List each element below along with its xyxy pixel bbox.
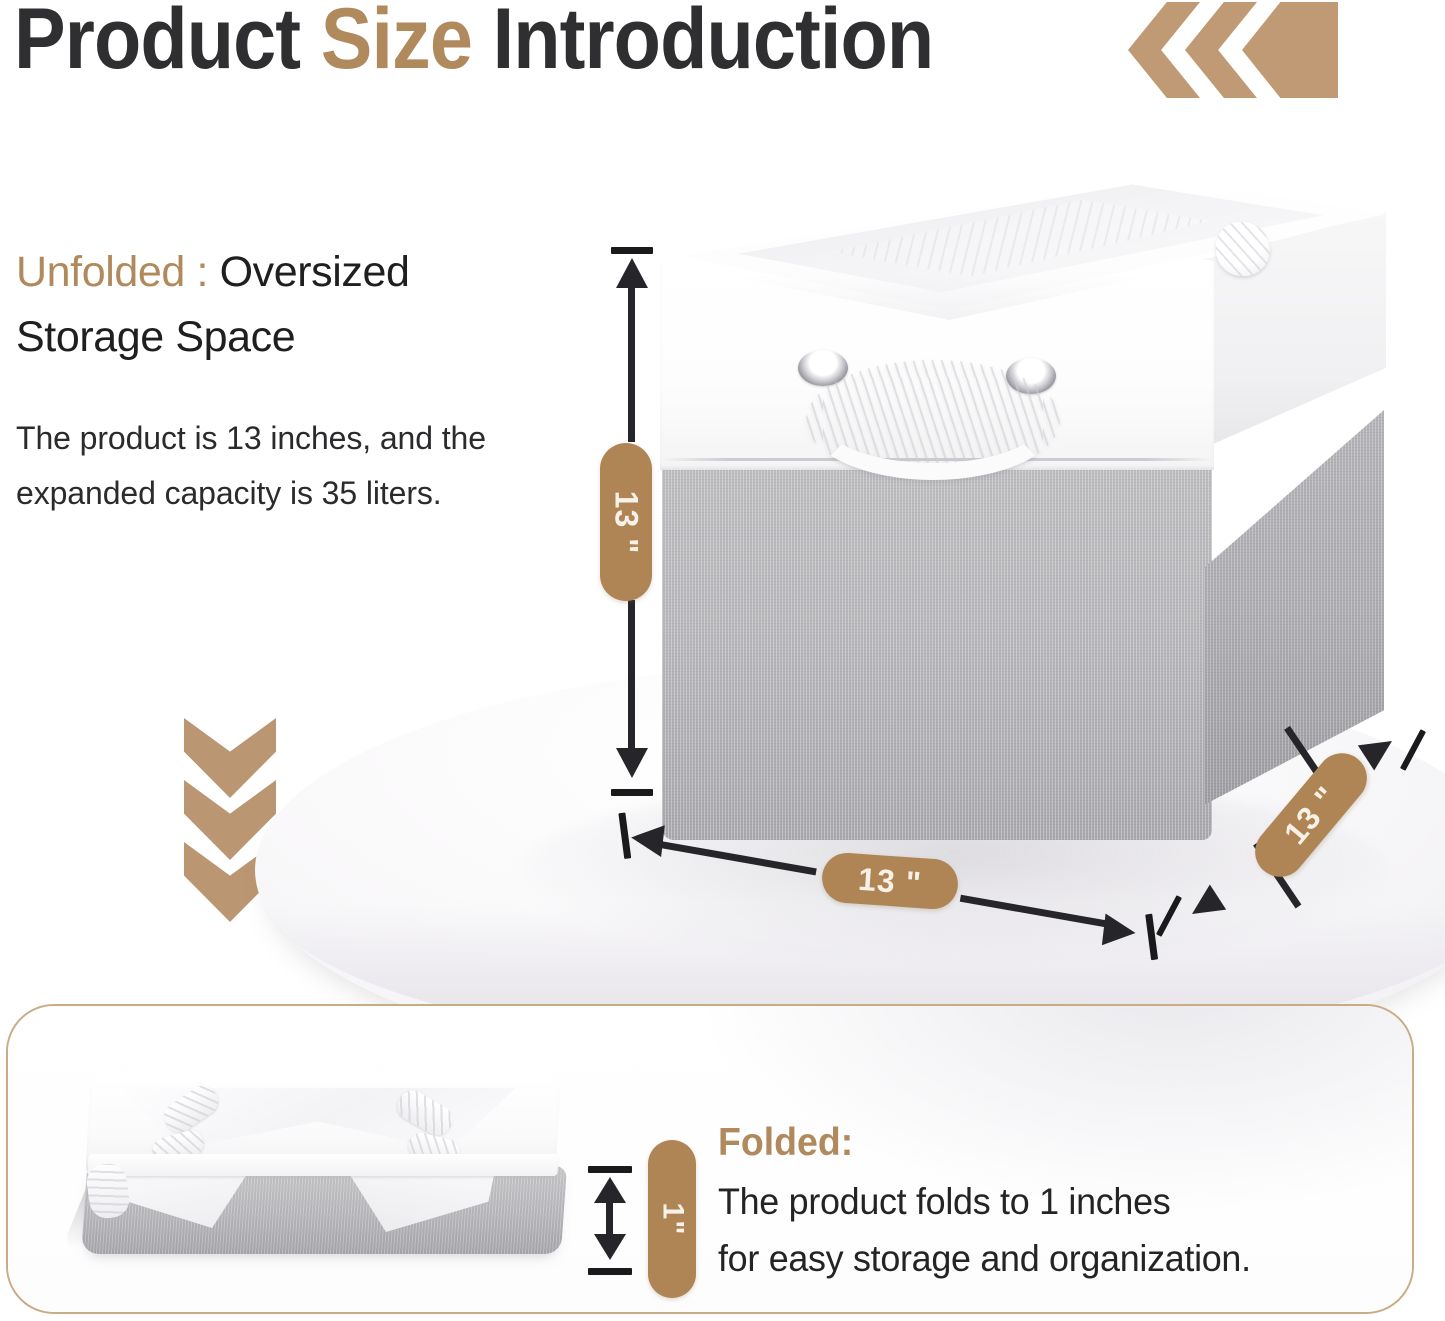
- basket-front-gray-panel: [662, 450, 1212, 840]
- width-line-right: [960, 895, 1114, 929]
- title-highlight: Size: [321, 0, 472, 87]
- height-arrow-down-icon: [616, 748, 648, 778]
- storage-basket-folded: [66, 1068, 586, 1273]
- title-part-2: Introduction: [472, 0, 933, 87]
- width-dimension-badge: 13 ": [820, 851, 959, 910]
- height-dimension-badge: 13 ": [600, 443, 652, 601]
- folded-height-tick-top: [588, 1166, 632, 1173]
- header: Product Size Introduction: [0, 0, 1445, 110]
- product-size-infographic: Product Size Introduction Unfolded : Ove…: [0, 0, 1445, 1321]
- folded-body: The product folds to 1 inches for easy s…: [718, 1173, 1358, 1288]
- rope-knot: [1216, 222, 1270, 276]
- depth-arrow-far-icon: [1358, 728, 1400, 770]
- folded-height-arrow-down-icon: [594, 1234, 626, 1260]
- folded-height-tick-bottom: [588, 1268, 632, 1275]
- rope-handle: [806, 360, 1060, 480]
- chevron-left-icon: [1242, 2, 1338, 98]
- height-tick-bottom: [611, 789, 653, 796]
- height-line-upper: [628, 282, 635, 442]
- height-dimension-value: 13 ": [608, 490, 645, 554]
- width-arrow-left-icon: [629, 822, 664, 857]
- depth-tick-near: [1156, 895, 1182, 937]
- width-tick-right: [1145, 914, 1158, 961]
- height-line-lower: [628, 600, 635, 756]
- folded-height-line: [606, 1200, 613, 1238]
- width-arrow-right-icon: [1102, 913, 1137, 948]
- folded-rim: [87, 1154, 558, 1176]
- width-dimension-value: 13 ": [857, 860, 923, 901]
- depth-tick-far: [1400, 729, 1426, 771]
- folded-body-line-2: for easy storage and organization.: [718, 1230, 1358, 1287]
- width-line-left: [658, 841, 817, 876]
- depth-arrow-near-icon: [1184, 884, 1226, 926]
- folded-height-value: 1": [655, 1203, 689, 1236]
- folded-height-badge: 1": [648, 1140, 696, 1298]
- folded-label: Folded:: [718, 1120, 1352, 1167]
- page-title: Product Size Introduction: [14, 0, 933, 84]
- header-chevron-group: [1128, 2, 1338, 98]
- folded-text-block: Folded: The product folds to 1 inches fo…: [718, 1120, 1378, 1287]
- title-part-1: Product: [14, 0, 321, 87]
- height-tick-top: [611, 247, 653, 254]
- folded-body-line-1: The product folds to 1 inches: [718, 1173, 1358, 1230]
